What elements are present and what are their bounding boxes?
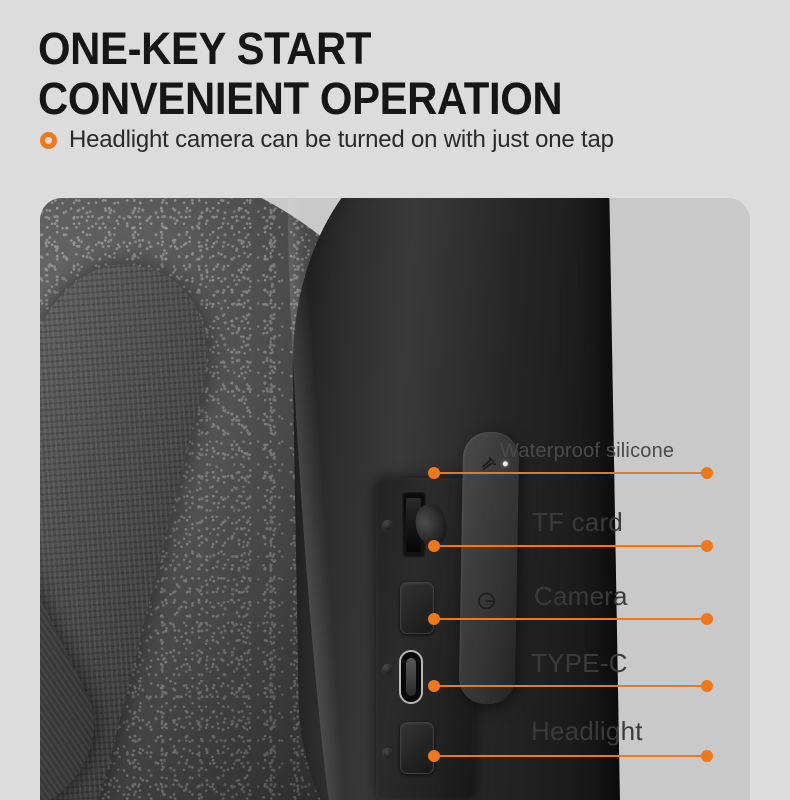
callout-label-type-c: TYPE-C — [531, 648, 628, 679]
power-button-icon — [475, 590, 497, 612]
callout-dot-anchor — [428, 613, 440, 625]
page-title: ONE-KEY START CONVENIENT OPERATION — [38, 24, 689, 125]
callout-label-headlight: Headlight — [531, 716, 643, 747]
subtitle-text: Headlight camera can be turned on with j… — [69, 126, 614, 154]
orange-ring-bullet-icon — [40, 132, 57, 149]
callout-line-tf-card — [434, 545, 707, 547]
callout-label-waterproof-silicone: Waterproof silicone — [500, 440, 674, 463]
usb-type-c-port[interactable] — [399, 650, 423, 704]
header-section: ONE-KEY START CONVENIENT OPERATION Headl… — [0, 0, 790, 198]
camera-button[interactable] — [400, 582, 434, 634]
callout-dot-end — [701, 540, 713, 552]
panel-screw-icon — [382, 748, 393, 759]
headlight-button[interactable] — [400, 722, 434, 774]
callout-dot-anchor — [428, 680, 440, 692]
callout-dot-end — [701, 680, 713, 692]
callout-dot-anchor — [428, 750, 440, 762]
callout-line-camera — [434, 618, 707, 620]
subtitle-row: Headlight camera can be turned on with j… — [40, 126, 614, 154]
callout-line-headlight — [434, 755, 707, 757]
panel-screw-icon — [382, 520, 393, 531]
callout-dot-end — [701, 467, 713, 479]
callout-label-tf-card: TF card — [532, 507, 623, 538]
callout-dot-anchor — [428, 540, 440, 552]
callout-dot-end — [701, 750, 713, 762]
callout-label-camera: Camera — [534, 581, 628, 612]
panel-screw-icon — [382, 664, 393, 675]
callout-line-waterproof-silicone — [434, 472, 707, 474]
product-photo — [40, 198, 750, 800]
callout-line-type-c — [434, 685, 707, 687]
callout-dot-anchor — [428, 467, 440, 479]
callout-dot-end — [701, 613, 713, 625]
